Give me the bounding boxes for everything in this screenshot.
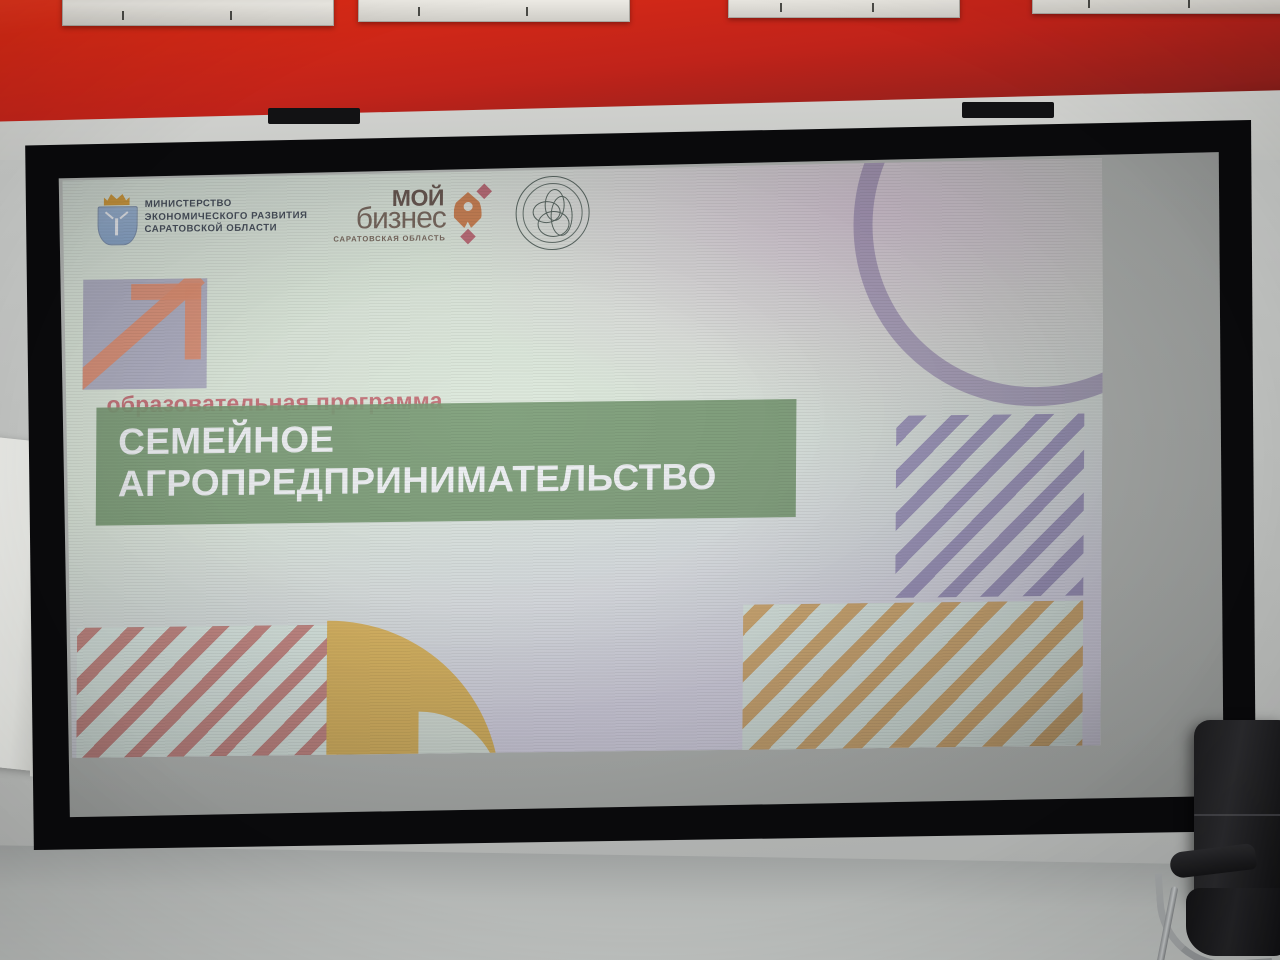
ministry-logo: МИНИСТЕРСТВО ЭКОНОМИЧЕСКОГО РАЗВИТИЯ САР… (97, 191, 307, 244)
screen-mount-bracket (962, 102, 1054, 118)
office-chair (1166, 698, 1280, 960)
pink-stripes-decor (76, 625, 339, 758)
saratov-coat-of-arms-icon (97, 193, 135, 243)
union-of-women-logo (516, 176, 590, 251)
projected-image-area: МИНИСТЕРСТВО ЭКОНОМИЧЕСКОГО РАЗВИТИЯ САР… (14, 120, 1256, 850)
presentation-slide: МИНИСТЕРСТВО ЭКОНОМИЧЕСКОГО РАЗВИТИЯ САР… (58, 145, 1104, 758)
logo-row: МИНИСТЕРСТВО ЭКОНОМИЧЕСКОГО РАЗВИТИЯ САР… (97, 176, 590, 256)
diamond-icon (460, 229, 476, 245)
slide-title-box: СЕМЕЙНОЕ АГРОПРЕДПРИНИМАТЕЛЬСТВО (96, 399, 797, 526)
mother-and-child-icon (532, 189, 574, 238)
ministry-logo-text: МИНИСТЕРСТВО ЭКОНОМИЧЕСКОГО РАЗВИТИЯ САР… (145, 197, 308, 238)
pin-rocket-icon (450, 186, 490, 242)
ministry-line-3: САРАТОВСКОЙ ОБЛАСТИ (145, 222, 308, 237)
screen-mount-bracket (268, 108, 360, 124)
ceiling-panel-row (0, 0, 1280, 34)
orange-stripes-decor (742, 601, 1083, 759)
three-fish-icon (106, 211, 127, 237)
chair-seat (1186, 888, 1280, 956)
arrow-head-icon (185, 283, 201, 359)
diamond-icon (477, 184, 493, 200)
ceiling-panel (1032, 0, 1280, 14)
chair-seam (1194, 814, 1280, 816)
ceiling-panel (62, 0, 334, 26)
my-business-logo: МОЙ бизнес САРАТОВСКАЯ ОБЛАСТЬ (333, 186, 490, 244)
my-business-word-main: бизнес (333, 205, 446, 234)
conference-room-scene: МИНИСТЕРСТВО ЭКОНОМИЧЕСКОГО РАЗВИТИЯ САР… (0, 0, 1280, 960)
my-business-subtitle: САРАТОВСКАЯ ОБЛАСТЬ (333, 234, 445, 242)
lower-wall (0, 845, 1280, 960)
purple-stripes-decor (895, 414, 1084, 598)
arrow-square-decor (83, 278, 208, 390)
crown-icon (104, 193, 130, 205)
yellow-arc-decor (326, 619, 501, 758)
ceiling-panel (728, 0, 960, 18)
slide-title-line-2: АГРОПРЕДПРИНИМАТЕЛЬСТВО (118, 455, 778, 505)
ceiling-panel (358, 0, 630, 22)
my-business-wordmark: МОЙ бизнес САРАТОВСКАЯ ОБЛАСТЬ (333, 187, 446, 242)
purple-ring-decor (852, 145, 1104, 408)
